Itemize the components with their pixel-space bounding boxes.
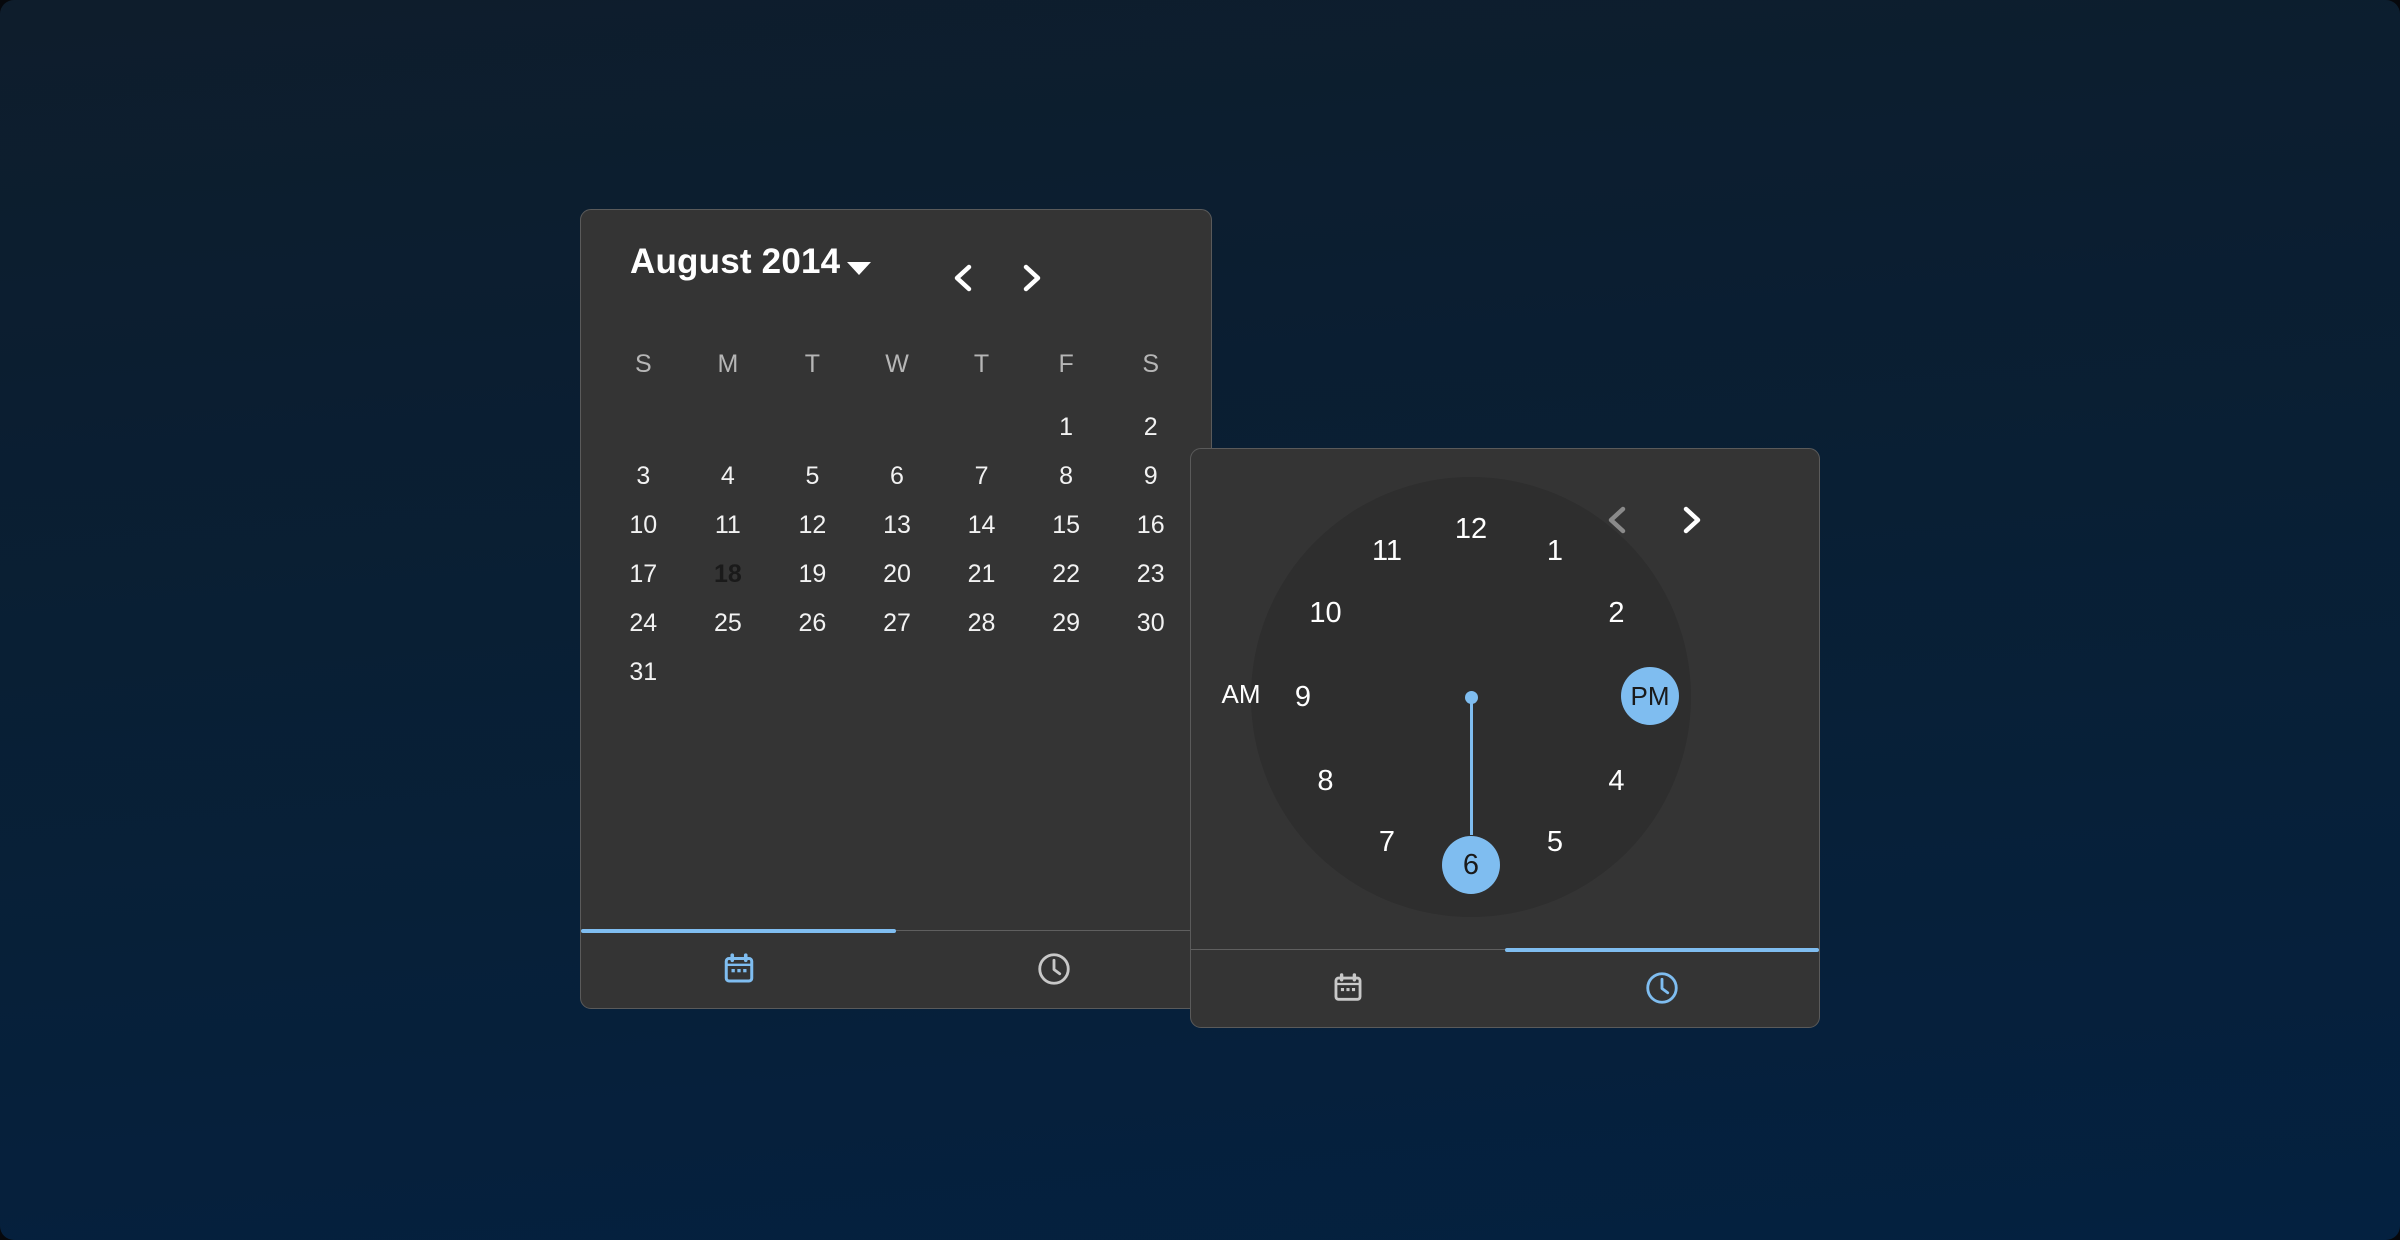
day-cell-empty	[855, 403, 940, 452]
day-cell[interactable]: 17	[601, 550, 686, 599]
day-cell[interactable]: 15	[1024, 501, 1109, 550]
clock-icon	[1643, 969, 1681, 1007]
clock-hour[interactable]: 1	[1524, 521, 1586, 583]
weekday-label: M	[686, 350, 771, 379]
day-cell[interactable]: 4	[686, 452, 771, 501]
weekday-label: T	[939, 350, 1024, 379]
day-cell-empty	[601, 403, 686, 452]
time-picker-dialog: 121234567891011 AM PM	[1190, 448, 1820, 1028]
weekday-label: S	[1108, 350, 1193, 379]
weekday-label: F	[1024, 350, 1109, 379]
clock-hour[interactable]: 11	[1356, 521, 1418, 583]
date-picker-header: August 2014	[581, 210, 1211, 318]
day-cell[interactable]: 2	[1108, 403, 1193, 452]
caret-down-icon[interactable]	[847, 262, 871, 275]
day-cell[interactable]: 20	[855, 550, 940, 599]
next-month-button[interactable]	[1008, 255, 1054, 301]
day-cell[interactable]: 10	[601, 501, 686, 550]
calendar-icon	[721, 951, 757, 987]
clock-hour[interactable]: 5	[1524, 811, 1586, 873]
clock-center-dot	[1465, 691, 1478, 704]
calendar-icon	[1331, 971, 1365, 1005]
tab-clock[interactable]	[896, 930, 1211, 1008]
day-cell[interactable]: 19	[770, 550, 855, 599]
day-cell[interactable]: 21	[939, 550, 1024, 599]
day-cell[interactable]: 30	[1108, 599, 1193, 648]
day-cell[interactable]: 3	[601, 452, 686, 501]
clock-icon	[1035, 950, 1073, 988]
day-cell[interactable]: 26	[770, 599, 855, 648]
clock-hour[interactable]: 2	[1585, 582, 1647, 644]
month-year-label[interactable]: August 2014	[630, 242, 840, 282]
day-cell[interactable]: 5	[770, 452, 855, 501]
clock-hour[interactable]: 8	[1295, 750, 1357, 812]
clock-hour[interactable]: 9	[1272, 666, 1334, 728]
day-cell[interactable]: 8	[1024, 452, 1109, 501]
day-cell[interactable]: 27	[855, 599, 940, 648]
tab-clock[interactable]	[1505, 949, 1819, 1027]
date-picker-tabbar	[581, 930, 1211, 1008]
day-cell-selected[interactable]: 18	[686, 550, 771, 599]
day-cell[interactable]: 31	[601, 648, 686, 697]
day-cell-empty	[686, 403, 771, 452]
day-cell[interactable]: 23	[1108, 550, 1193, 599]
pm-option[interactable]: PM	[1621, 667, 1679, 725]
day-cell[interactable]: 13	[855, 501, 940, 550]
weekday-header-row: SMTWTFS	[601, 350, 1193, 379]
day-cell[interactable]: 1	[1024, 403, 1109, 452]
day-cell[interactable]: 28	[939, 599, 1024, 648]
day-cell[interactable]: 29	[1024, 599, 1109, 648]
day-cell[interactable]: 9	[1108, 452, 1193, 501]
app-background: August 2014 SMTWTFS 12345678910111213141…	[0, 0, 2400, 1240]
am-option[interactable]: AM	[1211, 674, 1271, 714]
weekday-label: S	[601, 350, 686, 379]
day-cell-empty	[770, 403, 855, 452]
tab-calendar[interactable]	[581, 930, 896, 1008]
tab-calendar[interactable]	[1191, 949, 1505, 1027]
clock-hour-selected[interactable]: 6	[1442, 836, 1500, 894]
clock-hour[interactable]: 10	[1295, 582, 1357, 644]
clock-hour[interactable]: 12	[1440, 498, 1502, 560]
day-cell-empty	[939, 403, 1024, 452]
day-cell[interactable]: 25	[686, 599, 771, 648]
day-cell[interactable]: 22	[1024, 550, 1109, 599]
day-cell[interactable]: 14	[939, 501, 1024, 550]
clock-hand	[1470, 697, 1473, 835]
clock-hour[interactable]: 7	[1356, 811, 1418, 873]
date-picker-dialog: August 2014 SMTWTFS 12345678910111213141…	[580, 209, 1212, 1009]
day-cell[interactable]: 6	[855, 452, 940, 501]
day-cell[interactable]: 16	[1108, 501, 1193, 550]
day-cell[interactable]: 24	[601, 599, 686, 648]
previous-month-button[interactable]	[941, 255, 987, 301]
day-cell[interactable]: 12	[770, 501, 855, 550]
weekday-label: T	[770, 350, 855, 379]
day-cell[interactable]: 7	[939, 452, 1024, 501]
weekday-label: W	[855, 350, 940, 379]
time-picker-tabbar	[1191, 949, 1819, 1027]
day-grid: 1234567891011121314151617181920212223242…	[601, 403, 1193, 697]
day-cell[interactable]: 11	[686, 501, 771, 550]
clock-hour[interactable]: 4	[1585, 750, 1647, 812]
next-time-button[interactable]	[1668, 497, 1714, 543]
